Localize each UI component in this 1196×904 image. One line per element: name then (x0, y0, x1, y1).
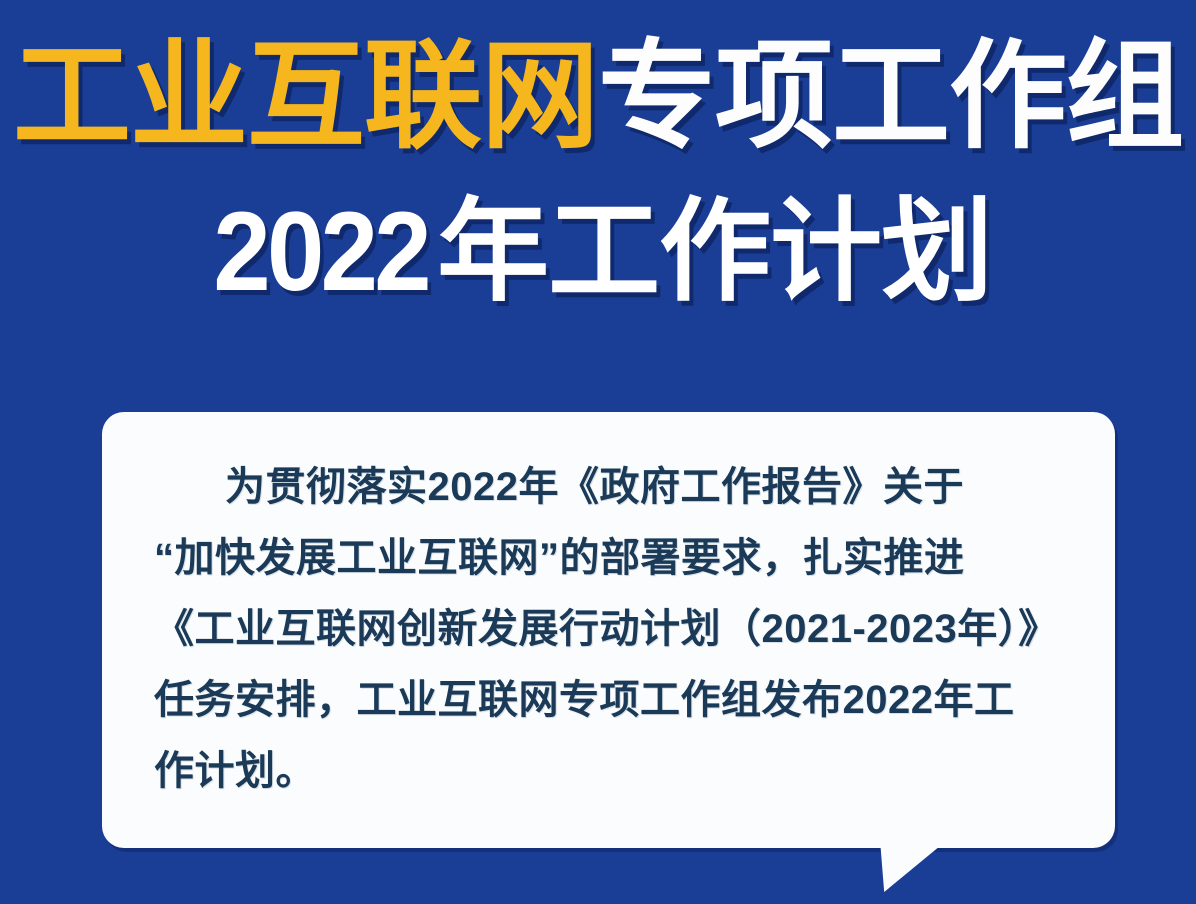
poster-title-block: 工业互联网专项工作组 2022年工作计划 (0, 0, 1196, 340)
intro-line-5: 作计划。 (154, 736, 1069, 807)
intro-line-2: “加快发展工业互联网”的部署要求，扎实推进 (154, 523, 1069, 594)
poster-title-line-1: 工业互联网专项工作组 (0, 38, 1196, 156)
intro-paragraph: 为贯彻落实2022年《政府工作报告》关于 “加快发展工业互联网”的部署要求，扎实… (154, 452, 1069, 807)
title-highlight-text: 工业互联网 (13, 31, 598, 163)
intro-line-3: 《工业互联网创新发展行动计划（2021-2023年）》 (154, 594, 1069, 665)
title-line2-rest-text: 年工作计划 (437, 189, 992, 314)
poster-title-line-2: 2022年工作计划 (0, 196, 1196, 308)
intro-line-1: 为贯彻落实2022年《政府工作报告》关于 (154, 452, 1069, 523)
intro-line-4: 任务安排，工业互联网专项工作组发布2022年工 (154, 665, 1069, 736)
intro-speech-bubble-card: 为贯彻落实2022年《政府工作报告》关于 “加快发展工业互联网”的部署要求，扎实… (102, 412, 1115, 848)
title-year-text: 2022 (213, 196, 428, 308)
poster-root: 工业互联网专项工作组 2022年工作计划 为贯彻落实2022年《政府工作报告》关… (0, 0, 1196, 904)
title-line1-rest-text: 专项工作组 (598, 31, 1183, 163)
speech-bubble-tail (878, 846, 940, 892)
